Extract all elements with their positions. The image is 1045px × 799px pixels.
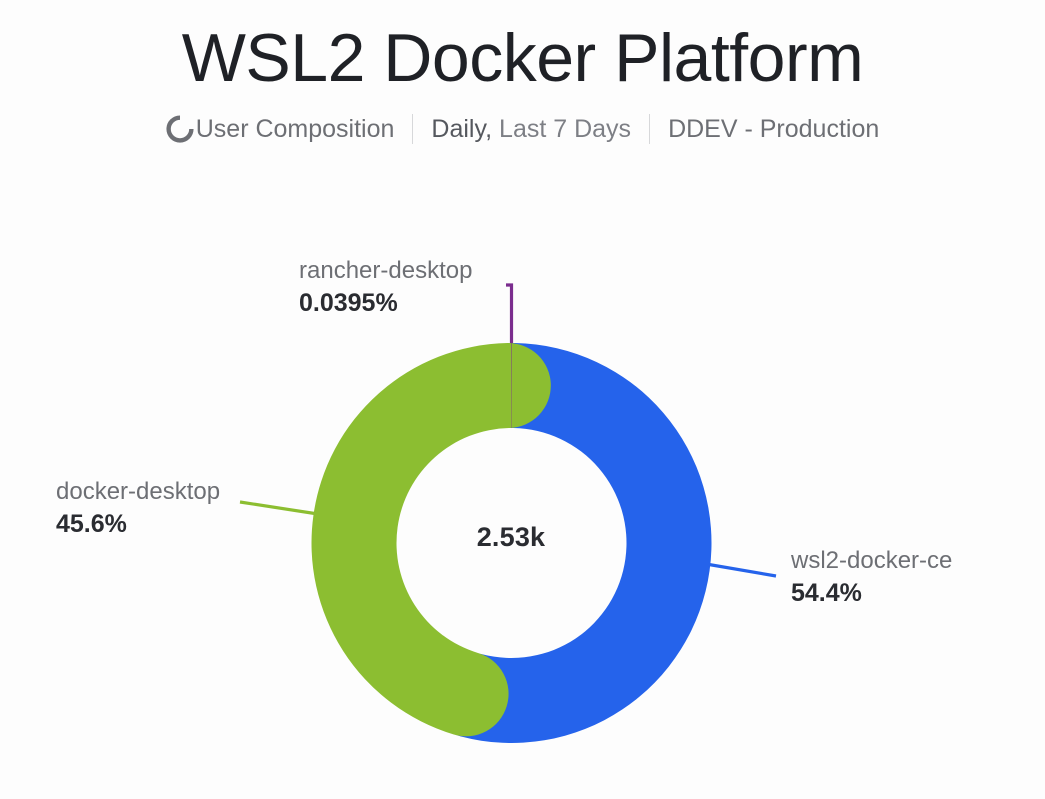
- donut-chart: 2.53k rancher-desktop 0.0395% docker-des…: [0, 0, 1045, 799]
- callout-docker-desktop[interactable]: docker-desktop 45.6%: [56, 478, 220, 540]
- donut-center-value: 2.53k: [411, 522, 611, 553]
- chart-page: WSL2 Docker Platform User Composition Da…: [0, 0, 1045, 799]
- leader-line-docker-desktop: [240, 502, 318, 514]
- callout-rancher-desktop-name: rancher-desktop: [299, 257, 472, 285]
- callout-wsl2-docker-ce-name: wsl2-docker-ce: [791, 547, 952, 575]
- callout-rancher-desktop-percent: 0.0395%: [299, 289, 472, 319]
- callout-docker-desktop-percent: 45.6%: [56, 510, 220, 540]
- callout-docker-desktop-name: docker-desktop: [56, 478, 220, 506]
- leader-line-wsl2-docker-ce: [706, 564, 776, 576]
- callout-rancher-desktop[interactable]: rancher-desktop 0.0395%: [299, 257, 472, 319]
- leader-line-rancher-desktop: [506, 285, 512, 345]
- callout-wsl2-docker-ce[interactable]: wsl2-docker-ce 54.4%: [791, 547, 952, 609]
- callout-wsl2-docker-ce-percent: 54.4%: [791, 579, 952, 609]
- donut-chart-svg: [0, 0, 1045, 799]
